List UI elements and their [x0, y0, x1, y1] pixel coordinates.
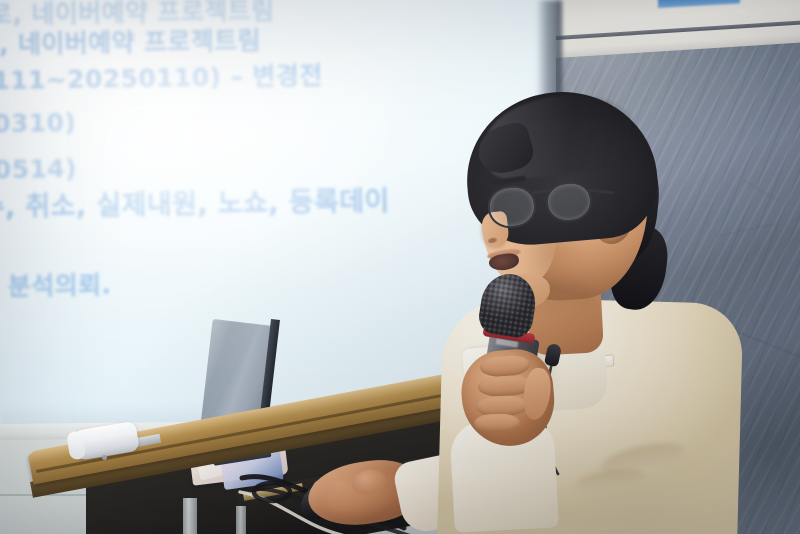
slide-line-4: 20250310) [0, 108, 76, 139]
slide-line-6: 예약수, 취소, 실제내원, 노쇼, 등록데이 [0, 179, 390, 225]
presentation-photo: 준으로, 네이버예약 프로젝트림 준으로, 네이버예약 프로젝트림 024111… [0, 0, 800, 534]
slide-line-7: 력하고 분석의뢰. [0, 265, 112, 304]
slide-line-3: 0241111~20250110) – 변경전 [0, 56, 323, 98]
stone-wall-panel [556, 0, 800, 534]
lectern-leg [183, 498, 197, 534]
slide-line-2: 준으로, 네이버예약 프로젝트림 [0, 21, 261, 62]
slide-line-5: 20250514) [0, 154, 77, 185]
lamp-switch[interactable] [102, 455, 107, 460]
